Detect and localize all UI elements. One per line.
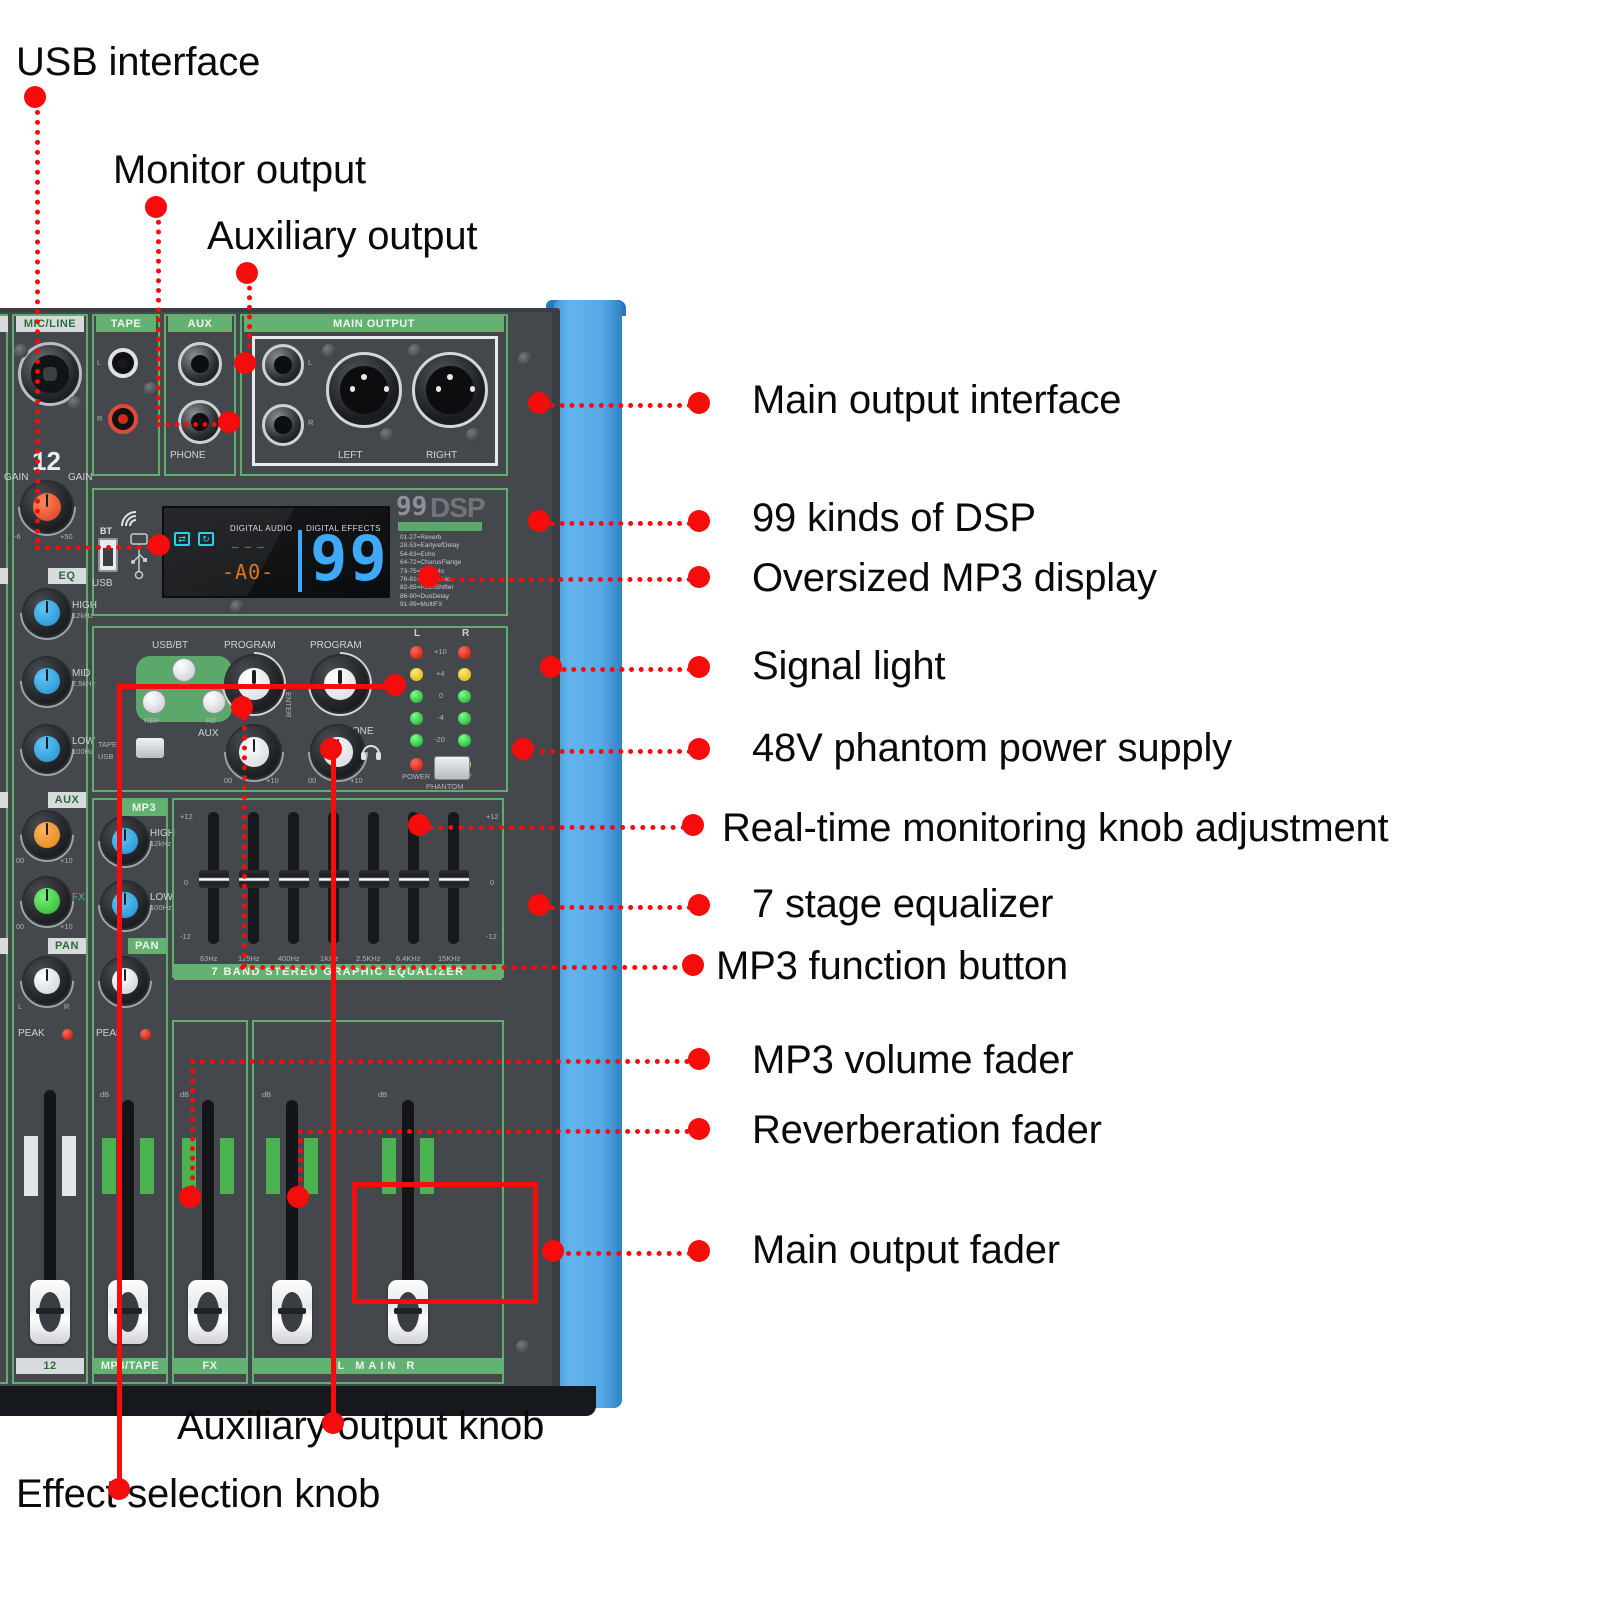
leader-mp3disp-endpoint: [418, 566, 440, 588]
eq-scale-bottom: -12: [180, 932, 191, 941]
callout-dot-reverberation-fader: [688, 1118, 710, 1140]
aux-knob-min: 00: [224, 776, 232, 785]
mp3-eq-low-freq: 100Hz: [150, 903, 172, 912]
main-fader-name: L MAIN R: [252, 1358, 504, 1374]
mp3-eq-low-knob[interactable]: [102, 882, 148, 928]
shuffle-icon: ⇄: [174, 532, 190, 546]
leader-effectknob-endpoint: [384, 674, 406, 696]
eq-band-label-6: 6.4KHz: [396, 954, 421, 963]
channel-2-peak-text: PEAK: [18, 1028, 45, 1039]
mp3-eq-low-text: LOW: [150, 892, 173, 903]
dsp-list-item: 54-63=Echo: [400, 551, 461, 559]
meter-led-r-1: [458, 646, 471, 659]
meter-led-l-3: [410, 690, 423, 703]
eq-cap-7[interactable]: [439, 870, 469, 888]
usb-label: USB: [92, 578, 113, 589]
channel-2-pan-knob[interactable]: [24, 958, 70, 1004]
leader-signal-h: [552, 667, 692, 672]
leader-aux-v: [247, 276, 252, 358]
main-l-fader-cap[interactable]: [272, 1280, 312, 1344]
xlr-right-screw-top: [408, 344, 422, 358]
leader-dsp-endpoint: [528, 510, 550, 532]
leader-mp3disp-h: [430, 577, 692, 582]
mp3-fader-green-r: [140, 1138, 154, 1194]
eq-scale-mid-r: 0: [490, 878, 494, 887]
fx-db-label: dB: [180, 1090, 189, 1099]
eq-scale-top: +12: [180, 812, 193, 821]
channel-1-input-label: MIC/LINE: [0, 316, 8, 332]
callout-label-signal-light: Signal light: [752, 644, 945, 689]
meter-led-r-5: [458, 734, 471, 747]
channel-1-aux-label: AUX: [0, 792, 8, 808]
tape-source-label: TAPE: [98, 740, 117, 749]
leader-mp3fader-h: [190, 1059, 690, 1064]
aux-knob-max: +10: [266, 776, 279, 785]
leader-phantom-endpoint: [512, 738, 534, 760]
mp3-eq-high-knob[interactable]: [102, 818, 148, 864]
panel-screw-top-right: [518, 352, 532, 366]
leader-usb-v: [35, 100, 40, 544]
leader-phantom-h: [540, 749, 692, 754]
mp3-eq-high-freq: 12kHz: [150, 839, 171, 848]
channel-1-eq-label: EQ: [0, 568, 8, 584]
meter-led-l-1: [410, 646, 423, 659]
mp3-fader-name: MP3/TAPE: [92, 1358, 168, 1374]
channel-2-screw-br: [68, 396, 82, 410]
channel-2-fader-scale-white-r: [62, 1136, 76, 1196]
leader-signal-endpoint: [540, 656, 562, 678]
leader-reverb-endpoint: [287, 1186, 309, 1208]
leader-realtime-h: [418, 825, 686, 830]
dsp-list-item: 01-27=Reverb: [400, 534, 461, 542]
aux-monitor-knob[interactable]: [228, 726, 280, 778]
meter-scale-4: -4: [437, 713, 444, 722]
usb-port[interactable]: [98, 538, 118, 572]
main-output-fader-highlight-box: [352, 1182, 538, 1304]
channel-2-fx-max: +10: [60, 922, 73, 931]
callout-label-oversized-mp3-display: Oversized MP3 display: [752, 556, 1157, 601]
meter-led-l-2: [410, 668, 423, 681]
channel-2-pan-right: R: [64, 1002, 69, 1011]
main-out-right-xlr[interactable]: [412, 352, 488, 428]
xlr-left-screw-top: [322, 344, 336, 358]
channel-2-pan-label: PAN: [48, 938, 86, 954]
dsp-list-item: 91-99=MultiFX: [400, 601, 461, 609]
callout-label-monitor-output: Monitor output: [113, 148, 366, 193]
usb-bt-label: USB/BT: [152, 640, 188, 651]
channel-2-pan-left: L: [18, 1002, 22, 1011]
mixer-side-panel: [554, 300, 622, 1408]
callout-label-auxiliary-output-knob: Auxiliary output knob: [177, 1404, 544, 1449]
main-out-left-text: LEFT: [338, 450, 362, 461]
mp3-pan-knob[interactable]: [102, 958, 148, 1004]
callout-label-auxiliary-output: Auxiliary output: [207, 214, 477, 259]
callout-label-phantom-power: 48V phantom power supply: [752, 726, 1232, 771]
channel-2-aux-label: AUX: [48, 792, 86, 808]
eq-band-label-1: 63Hz: [200, 954, 218, 963]
callout-label-7-stage-equalizer: 7 stage equalizer: [752, 882, 1053, 927]
channel-2-fx-knob[interactable]: [24, 878, 70, 924]
mp3-db-label: dB: [100, 1090, 109, 1099]
phantom-switch[interactable]: [434, 756, 470, 780]
callout-label-mp3-volume-fader: MP3 volume fader: [752, 1038, 1073, 1083]
leader-monitor-v: [156, 210, 161, 420]
repeat-icon: ↻: [198, 532, 214, 546]
fx-fader-name: FX: [172, 1358, 248, 1374]
callout-dot-mp3-volume-fader: [688, 1048, 710, 1070]
channel-2-fx-min: 00: [16, 922, 24, 931]
source-select-switch[interactable]: [136, 738, 164, 758]
eq-scale-top-r: +12: [486, 812, 499, 821]
main-out-l-mark: L: [308, 358, 312, 367]
channel-2-aux-knob[interactable]: [24, 812, 70, 858]
leader-monitor-h: [156, 422, 226, 427]
callout-label-main-output-interface: Main output interface: [752, 378, 1121, 423]
channel-2-eq-low-freq: 100Hz: [72, 747, 94, 756]
meter-l-label: L: [414, 628, 420, 639]
channel-2-eq-mid-text: MID: [72, 668, 90, 679]
mp3-peak-led: [140, 1029, 151, 1040]
main-out-r-mark: R: [308, 418, 313, 427]
main-out-right-text: RIGHT: [426, 450, 457, 461]
dsp-list-item: 28-53=EarlyrefDelay: [400, 542, 461, 550]
panel-screw-bottom-right: [516, 1340, 530, 1354]
channel-2-fader-name: 12: [16, 1358, 84, 1374]
eq-band-label-3: 400Hz: [278, 954, 300, 963]
callout-label-mp3-function-button: MP3 function button: [716, 944, 1068, 989]
eq-scale-mid: 0: [184, 878, 188, 887]
channel-1-pan-label: PAN: [0, 938, 8, 954]
mp3-pan-label: PAN: [128, 938, 166, 954]
usb-symbol-icon: [128, 532, 150, 580]
eq-scale-bottom-r: -12: [486, 932, 497, 941]
main-l-green-r: [304, 1138, 318, 1194]
xlr-left-screw-bot: [380, 428, 394, 442]
channel-2-fader-cap[interactable]: [30, 1280, 70, 1344]
enter-label: ENTER: [284, 692, 293, 717]
lcd-dash-row: –––: [232, 540, 270, 553]
diagram-root: MIC/LINE GAIN EQ HIGH 12kHz MID 2.5kHz L…: [0, 0, 1600, 1600]
channel-2-peak-led: [62, 1029, 73, 1040]
leader-monitor-endpoint: [218, 411, 240, 433]
leader-main-out-endpoint: [528, 392, 550, 414]
leader-mp3btn-v: [242, 706, 247, 968]
lcd-track-value: -A0-: [222, 560, 274, 584]
dsp-badge-number: 99: [396, 492, 427, 522]
leader-realtime-endpoint: [408, 814, 430, 836]
main-l-db-label: dB: [262, 1090, 271, 1099]
channel-2-eq-label: EQ: [48, 568, 86, 584]
leader-eq-endpoint: [528, 894, 550, 916]
tape-right-mark: R: [97, 414, 102, 423]
meter-led-r-2: [458, 668, 471, 681]
main-r-db-label: dB: [378, 1090, 387, 1099]
main-l-green-l: [266, 1138, 280, 1194]
xlr-right-screw-bot: [466, 428, 480, 442]
tape-label: TAPE: [96, 316, 156, 332]
eq-band-label-7: 15KHz: [438, 954, 461, 963]
digital-audio-label: DIGITAL AUDIO: [230, 524, 293, 533]
leader-auxknob-endpoint: [320, 738, 342, 760]
fx-fader-green-r: [220, 1138, 234, 1194]
meter-r-label: R: [462, 628, 469, 639]
channel-2-eq-low-knob[interactable]: [24, 726, 70, 772]
channel-2-eq-high-freq: 12kHz: [72, 611, 93, 620]
meter-scale-5: -20: [434, 735, 445, 744]
leader-auxknob-v: [331, 745, 336, 1423]
dsp-badge-text: DSP: [430, 492, 485, 524]
leader-effectknob-v: [117, 684, 122, 1490]
leader-dsp-h: [540, 521, 692, 526]
usb-bt-button[interactable]: [172, 658, 196, 682]
eq-cap-6[interactable]: [399, 870, 429, 888]
channel-2-screw-tl: [14, 344, 28, 358]
mp3-fader-green-l: [102, 1138, 116, 1194]
phone-knob-min: 00: [308, 776, 316, 785]
main-out-l-trs[interactable]: [262, 344, 304, 386]
callout-label-reverberation-fader: Reverberation fader: [752, 1108, 1102, 1153]
phone-knob-max: +10: [350, 776, 363, 785]
meter-led-l-4: [410, 712, 423, 725]
channel-2-gain-min: -6: [14, 532, 21, 541]
mp3-lcd-display: ⇄ ↻ DIGITAL AUDIO DIGITAL EFFECTS ––– -A…: [162, 506, 390, 598]
leader-reverb-v: [298, 1129, 303, 1191]
phantom-switch-label: PHANTOM: [426, 782, 463, 791]
aux-output-jack[interactable]: [178, 342, 222, 386]
meter-scale-2: +4: [436, 669, 445, 678]
meter-led-r-4: [458, 712, 471, 725]
leader-eq-h: [540, 905, 692, 910]
callout-label-real-time-monitoring: Real-time monitoring knob adjustment: [722, 806, 1388, 851]
main-output-label: MAIN OUTPUT: [244, 316, 504, 332]
eq-cap-1[interactable]: [199, 870, 229, 888]
callout-label-usb-interface: USB interface: [16, 40, 260, 85]
channel-2-aux-max: +10: [60, 856, 73, 865]
channel-2-fx-text: FX: [72, 892, 85, 903]
channel-2-fader-scale-white-l: [24, 1136, 38, 1196]
aux-knob-label: AUX: [198, 728, 219, 739]
power-label: POWER: [402, 772, 430, 781]
leader-mainfader-endpoint: [542, 1240, 564, 1262]
channel-2-gain-max: +50: [60, 532, 73, 541]
leader-aux-endpoint: [234, 352, 256, 374]
eq-cap-5[interactable]: [359, 870, 389, 888]
channel-2-gain-label-left: GAIN: [4, 472, 28, 483]
leader-main-out-h: [540, 403, 692, 408]
meter-led-l-5: [410, 734, 423, 747]
leader-effectknob-h: [117, 684, 395, 689]
channel-2-aux-min: 00: [16, 856, 24, 865]
program-label-left: PROGRAM: [224, 640, 276, 651]
main-out-r-trs[interactable]: [262, 404, 304, 446]
power-led: [410, 758, 423, 771]
leader-reverb-h: [298, 1129, 690, 1134]
channel-2-input-label: MIC/LINE: [16, 316, 84, 332]
channel-2-gain-knob[interactable]: [22, 482, 72, 532]
bluetooth-wave-icon: [118, 506, 144, 530]
fx-fader-cap[interactable]: [188, 1280, 228, 1344]
leader-mp3fader-v: [190, 1059, 195, 1190]
dsp-list-item: 86-90=DuoDelay: [400, 593, 461, 601]
dsp-badge-bar: [398, 522, 482, 531]
bt-label: BT: [100, 526, 112, 536]
callout-label-effect-selection-knob: Effect selection knob: [16, 1472, 380, 1517]
leader-usb-endpoint: [148, 534, 170, 556]
mp3-fader-cap[interactable]: [108, 1280, 148, 1344]
lcd-effect-value: 99: [310, 528, 389, 590]
rep-button[interactable]: [142, 690, 166, 714]
usb-source-label: USB: [98, 752, 113, 761]
channel-2-gain-label-right: GAIN: [68, 472, 92, 483]
panel-screw-mid: [230, 600, 244, 614]
eq-cap-3[interactable]: [279, 870, 309, 888]
phone-label: PHONE: [170, 450, 206, 461]
aux-out-label: AUX: [168, 316, 232, 332]
callout-label-99-kinds-of-dsp: 99 kinds of DSP: [752, 496, 1036, 541]
meter-led-r-3: [458, 690, 471, 703]
tape-rca-left[interactable]: [108, 348, 138, 378]
rz-label: RZ: [206, 716, 216, 725]
meter-scale-1: +10: [434, 647, 447, 656]
tape-left-mark: L: [97, 358, 101, 367]
program-label-right: PROGRAM: [310, 640, 362, 651]
channel-2-eq-high-knob[interactable]: [24, 590, 70, 636]
leader-mp3btn-h: [240, 965, 688, 970]
leader-mp3btn-endpoint: [231, 696, 253, 718]
tape-rca-right[interactable]: [108, 404, 138, 434]
lcd-divider: [298, 530, 302, 592]
leader-usb-h: [35, 545, 162, 550]
channel-2-eq-mid-knob[interactable]: [24, 658, 70, 704]
leader-mp3fader-endpoint: [179, 1186, 201, 1208]
headphone-icon: [360, 738, 382, 760]
leader-mainfader-h: [566, 1251, 692, 1256]
main-out-left-xlr[interactable]: [326, 352, 402, 428]
eq-band-label-5: 2.5KHz: [356, 954, 381, 963]
rep-label: REP: [144, 716, 159, 725]
meter-scale-3: 0: [439, 691, 443, 700]
callout-label-main-output-fader: Main output fader: [752, 1228, 1060, 1273]
